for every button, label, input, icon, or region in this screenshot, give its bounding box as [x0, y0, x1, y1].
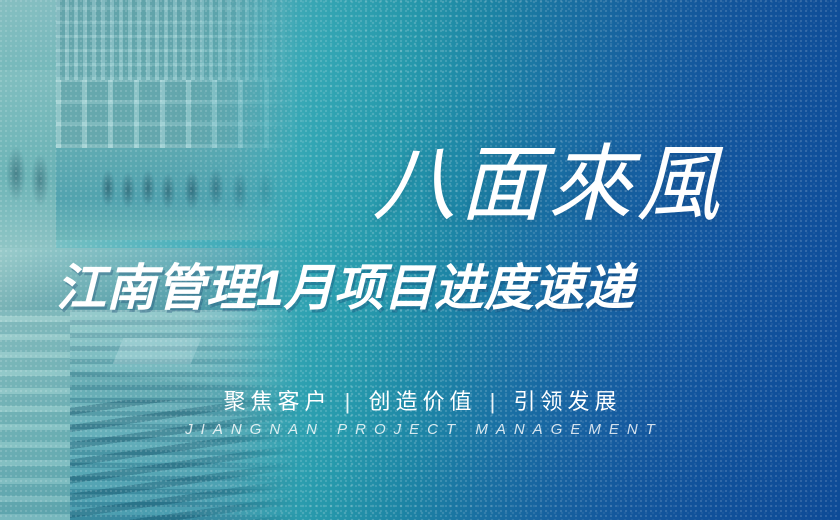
poster-banner: JNPM 八面來風 江南管理1月项目进度速递 聚焦客户 | 创造价值 | 引领发…: [0, 0, 840, 520]
page-title: 八面來風: [372, 134, 740, 238]
page-subtitle: 江南管理1月项目进度速递: [56, 256, 756, 320]
